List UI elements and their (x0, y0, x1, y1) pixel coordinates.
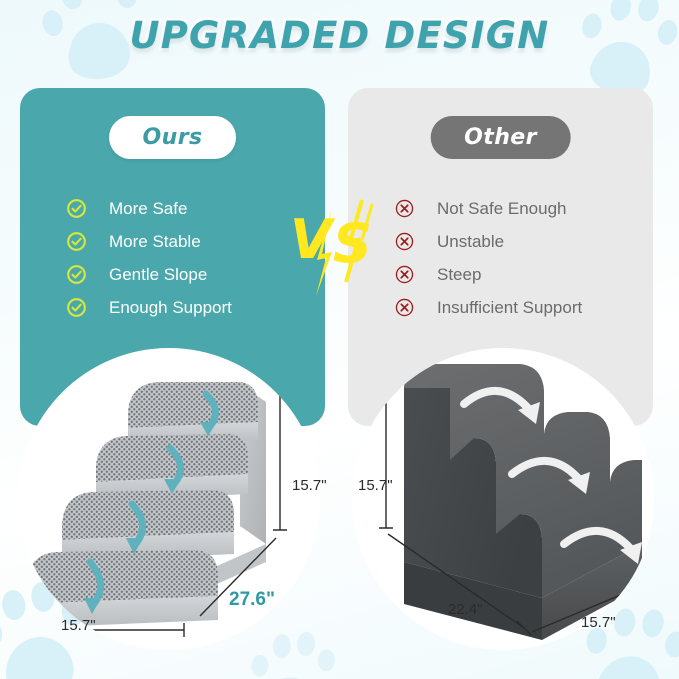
dimension-label-other-width: 15.7" (581, 614, 616, 631)
x-circle-icon (394, 297, 415, 318)
dimension-label-ours-height: 15.7" (292, 477, 327, 494)
feature-label: Unstable (437, 233, 504, 250)
check-circle-icon (66, 198, 87, 219)
dimension-label-ours-depth: 27.6" (229, 589, 275, 611)
infographic-canvas: UPGRADED DESIGN Ours More Safe (0, 0, 679, 679)
feature-row: Not Safe Enough (394, 192, 639, 225)
feature-row: Insufficient Support (394, 291, 639, 324)
feature-label: More Safe (109, 200, 187, 217)
feature-row: Unstable (394, 225, 639, 258)
feature-label: More Stable (109, 233, 201, 250)
svg-text:S: S (333, 212, 372, 275)
title-container: UPGRADED DESIGN (0, 14, 679, 57)
svg-text:V: V (290, 208, 336, 271)
dimension-label-ours-width: 15.7" (61, 617, 96, 634)
feature-row: More Stable (66, 225, 311, 258)
feature-row: Steep (394, 258, 639, 291)
badge-other: Other (430, 116, 571, 159)
feature-label: Not Safe Enough (437, 200, 566, 217)
feature-label: Steep (437, 266, 481, 283)
product-photo-other (352, 348, 654, 650)
feature-label: Insufficient Support (437, 299, 582, 316)
badge-ours: Ours (109, 116, 237, 159)
check-circle-icon (66, 297, 87, 318)
x-circle-icon (394, 264, 415, 285)
feature-list-other: Not Safe Enough Unstable (394, 192, 639, 324)
x-circle-icon (394, 231, 415, 252)
feature-row: More Safe (66, 192, 311, 225)
x-circle-icon (394, 198, 415, 219)
dimension-label-other-depth: 22.4" (448, 601, 483, 618)
feature-list-ours: More Safe More Stable (66, 192, 311, 324)
feature-label: Enough Support (109, 299, 232, 316)
vs-badge: V S (288, 196, 388, 301)
feature-row: Gentle Slope (66, 258, 311, 291)
check-circle-icon (66, 264, 87, 285)
feature-row: Enough Support (66, 291, 311, 324)
feature-label: Gentle Slope (109, 266, 207, 283)
page-title: UPGRADED DESIGN (130, 14, 550, 57)
dimension-label-other-height: 15.7" (358, 477, 393, 494)
check-circle-icon (66, 231, 87, 252)
